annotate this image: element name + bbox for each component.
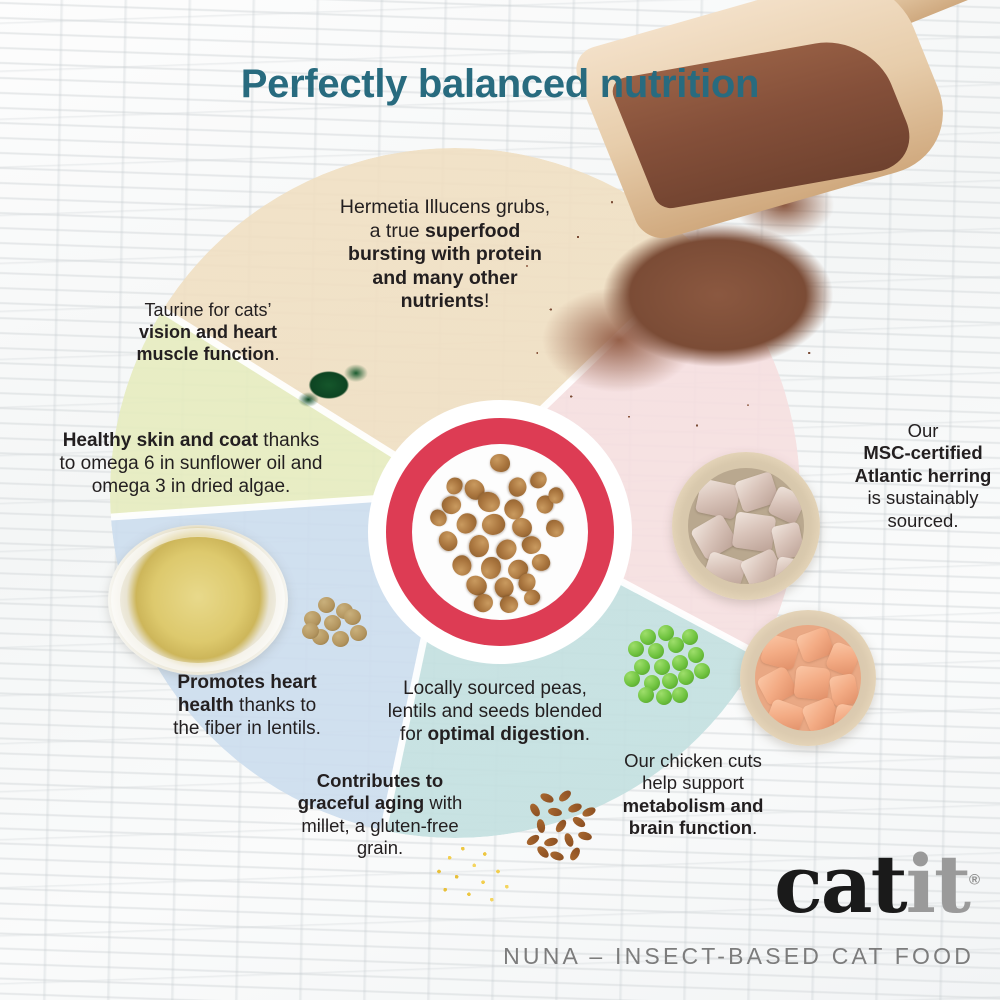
callout-text: is sustainably [867, 487, 978, 508]
callout-line: vision and heart [100, 322, 316, 344]
chicken-chunk [766, 698, 807, 731]
pea [672, 687, 688, 703]
pea [624, 671, 640, 687]
herring-bowl-contents [688, 468, 804, 584]
callout-line: millet, a gluten-free [272, 815, 488, 837]
seed [539, 791, 555, 804]
herring-chunk [774, 556, 802, 584]
callout-msc-herring: OurMSC-certifiedAtlantic herringis susta… [848, 420, 998, 532]
callout-line: a true superfood [320, 220, 570, 244]
pea [656, 689, 672, 705]
callout-line: help support [600, 772, 786, 794]
lentil [332, 631, 349, 647]
seed [557, 788, 573, 803]
kibble-piece [490, 454, 510, 472]
callout-text: ! [484, 290, 489, 312]
seed [568, 846, 582, 862]
callout-text: a true [370, 220, 425, 242]
chicken-bowl [740, 610, 876, 746]
mixed-seeds [520, 790, 606, 870]
callout-line: Healthy skin and coat thanks [34, 430, 348, 453]
callout-emphasis: Atlantic herring [855, 465, 992, 486]
callout-line: nutrients! [320, 290, 570, 314]
callout-insect-protein: Hermetia Illucens grubs,a true superfood… [320, 196, 570, 314]
seed [563, 832, 575, 848]
kibble-piece [481, 557, 501, 579]
callout-emphasis: metabolism and [623, 795, 764, 816]
lentil [350, 625, 367, 641]
seed [547, 807, 562, 817]
callout-text: the fiber in lentils. [173, 718, 321, 739]
pea [648, 643, 664, 659]
lentil [344, 609, 361, 625]
callout-text: for [400, 724, 427, 745]
callout-line: lentils and seeds blended [378, 701, 612, 724]
callout-line: Our [848, 420, 998, 442]
kibble-piece [544, 518, 566, 539]
logo-cat-text: cat [774, 837, 906, 931]
callout-text: Locally sourced peas, [403, 678, 587, 699]
callout-text: millet, a gluten-free [301, 815, 458, 836]
callout-text: with [424, 792, 462, 813]
callout-text: lentils and seeds blended [388, 701, 602, 722]
callout-line: sourced. [848, 510, 998, 532]
callout-text: thanks [258, 430, 319, 451]
center-kibble-plate [412, 444, 588, 620]
catit-logo: catit® [774, 846, 978, 922]
green-peas-cluster [620, 625, 710, 705]
callout-text: . [275, 344, 280, 364]
callout-line: Atlantic herring [848, 465, 998, 487]
pea [638, 687, 654, 703]
kibble-piece [445, 476, 463, 495]
callout-line: is sustainably [848, 487, 998, 509]
pea [688, 647, 704, 663]
lentil [318, 597, 335, 613]
callout-text: . [585, 724, 590, 745]
kibble-piece [435, 528, 462, 555]
kibble-piece [528, 469, 549, 491]
herring-chunk [732, 511, 777, 552]
callout-text: omega 3 in dried algae. [92, 476, 291, 497]
callout-line: MSC-certified [848, 442, 998, 464]
callout-emphasis: and many other [372, 267, 517, 289]
callout-text: sourced. [888, 510, 959, 531]
callout-text: help support [642, 772, 744, 793]
chicken-chunk [760, 633, 801, 671]
callout-text: grain. [357, 837, 403, 858]
seed [543, 836, 559, 847]
kibble-piece [477, 491, 501, 513]
logo-it-text: it [906, 837, 969, 931]
scoop-powder [607, 34, 923, 211]
callout-emphasis: Healthy skin and coat [63, 430, 258, 451]
callout-taurine: Taurine for cats’vision and heartmuscle … [100, 300, 316, 365]
callout-line: grain. [272, 837, 488, 859]
product-tagline: NUNA – INSECT-BASED CAT FOOD [503, 943, 974, 970]
seed [567, 802, 583, 814]
callout-line: the fiber in lentils. [152, 718, 342, 741]
page-title: Perfectly balanced nutrition [0, 62, 1000, 107]
callout-line: bursting with protein [320, 243, 570, 267]
seed [577, 830, 593, 841]
callout-line: metabolism and [600, 795, 786, 817]
lentil [324, 615, 341, 631]
callout-line: muscle function. [100, 344, 316, 366]
kibble-piece [530, 552, 552, 574]
callout-text: Hermetia Illucens grubs, [340, 196, 550, 218]
callout-emphasis: MSC-certified [863, 442, 982, 463]
seed [581, 805, 597, 818]
seed [549, 850, 565, 862]
callout-emphasis: optimal digestion [427, 724, 584, 745]
callout-line: Locally sourced peas, [378, 678, 612, 701]
kibble-piece [498, 594, 519, 614]
callout-line: Taurine for cats’ [100, 300, 316, 322]
pea [628, 641, 644, 657]
kibble-piece [453, 510, 479, 537]
callout-emphasis: Promotes heart [177, 672, 316, 693]
callout-line: to omega 6 in sunflower oil and [34, 453, 348, 476]
seed [528, 802, 542, 818]
callout-line: and many other [320, 267, 570, 291]
callout-text: Our [908, 420, 939, 441]
callout-emphasis: Contributes to [317, 770, 443, 791]
infographic-canvas: Perfectly balanced nutrition Hermetia Il… [0, 0, 1000, 1000]
pea [678, 669, 694, 685]
callout-line: for optimal digestion. [378, 724, 612, 747]
callout-line: omega 3 in dried algae. [34, 476, 348, 499]
callout-emphasis: muscle function [136, 344, 274, 364]
pea [662, 673, 678, 689]
callout-emphasis: vision and heart [139, 322, 277, 342]
callout-line: Hermetia Illucens grubs, [320, 196, 570, 220]
callout-graceful-aging: Contributes tograceful aging withmillet,… [272, 770, 488, 860]
herring-chunk [771, 521, 804, 560]
callout-text: Our chicken cuts [624, 750, 762, 771]
lentils-cluster [300, 595, 370, 653]
callout-text: to omega 6 in sunflower oil and [60, 453, 323, 474]
callout-emphasis: superfood [425, 220, 520, 242]
kibble-piece [468, 534, 490, 558]
callout-line: graceful aging with [272, 792, 488, 814]
seed [554, 818, 569, 834]
callout-emphasis: health [178, 695, 234, 716]
herring-bowl [672, 452, 820, 600]
callout-digestion: Locally sourced peas,lentils and seeds b… [378, 678, 612, 747]
callout-text: thanks to [234, 695, 316, 716]
callout-line: Promotes heart [152, 672, 342, 695]
chicken-bowl-contents [755, 625, 861, 731]
kibble-piece [506, 475, 529, 498]
callout-emphasis: bursting with protein [348, 243, 542, 265]
sunflower-oil-bowl [108, 525, 288, 675]
pea [694, 663, 710, 679]
callout-text: Taurine for cats’ [144, 300, 271, 320]
callout-line: Our chicken cuts [600, 750, 786, 772]
registered-trademark-icon: ® [969, 871, 978, 888]
callout-line: Contributes to [272, 770, 488, 792]
callout-emphasis: nutrients [401, 290, 484, 312]
callout-chicken-cuts: Our chicken cutshelp supportmetabolism a… [600, 750, 786, 840]
chicken-chunk [833, 703, 860, 731]
callout-line: health thanks to [152, 695, 342, 718]
callout-heart-health: Promotes hearthealth thanks tothe fiber … [152, 672, 342, 741]
seed [535, 844, 551, 860]
callout-skin-and-coat: Healthy skin and coat thanksto omega 6 i… [34, 430, 348, 499]
lentil [302, 623, 319, 639]
callout-line: brain function. [600, 817, 786, 839]
callout-emphasis: graceful aging [298, 792, 424, 813]
callout-emphasis: brain function [629, 817, 752, 838]
chicken-chunk [793, 665, 830, 700]
callout-text: . [752, 817, 757, 838]
seed [536, 818, 546, 833]
oil-bowl-rim [111, 528, 285, 672]
pea [682, 629, 698, 645]
